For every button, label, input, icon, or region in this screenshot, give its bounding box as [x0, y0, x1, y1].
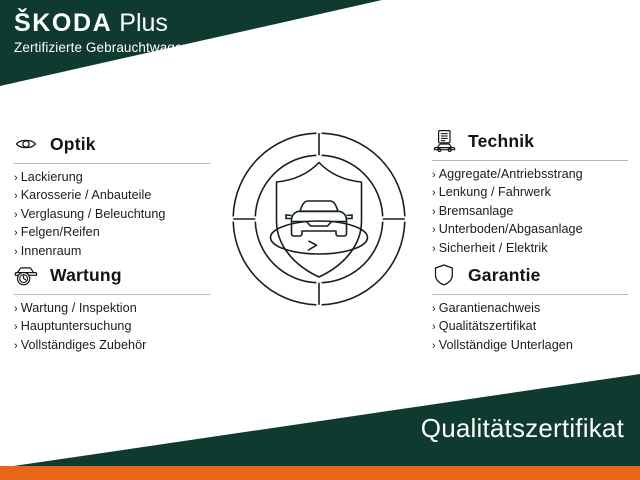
section-wartung-rule [14, 294, 210, 295]
chevron-right-icon: › [14, 172, 18, 184]
car-service-clock-icon [14, 263, 40, 287]
chevron-right-icon: › [432, 206, 436, 218]
chevron-right-icon: › [14, 227, 18, 239]
section-wartung: Wartung ›Wartung / Inspektion ›Hauptunte… [14, 262, 214, 355]
chevron-right-icon: › [14, 209, 18, 221]
list-item-label: Qualitätszertifikat [439, 319, 537, 333]
certificate-page: ŠKODAPlus Zertifizierte Gebrauchtwagen O… [0, 0, 640, 480]
list-item-label: Bremsanlage [439, 204, 514, 218]
section-wartung-title: Wartung [50, 265, 122, 286]
chevron-right-icon: › [432, 303, 436, 315]
chevron-right-icon: › [14, 303, 18, 315]
list-item: ›Wartung / Inspektion [14, 300, 214, 318]
section-technik: Technik ›Aggregate/Antriebsstrang ›Lenku… [432, 128, 632, 258]
list-item-label: Vollständiges Zubehör [21, 338, 147, 352]
list-item: ›Felgen/Reifen [14, 224, 214, 242]
list-item: ›Lackierung [14, 169, 214, 187]
list-item-label: Lackierung [21, 170, 83, 184]
section-technik-list: ›Aggregate/Antriebsstrang ›Lenkung / Fah… [432, 166, 632, 258]
eye-icon [14, 132, 40, 156]
chevron-right-icon: › [14, 246, 18, 258]
section-optik-header: Optik [14, 131, 214, 157]
section-technik-header: Technik [432, 128, 632, 154]
chevron-right-icon: › [432, 243, 436, 255]
list-item: ›Karosserie / Anbauteile [14, 187, 214, 205]
section-optik-rule [14, 163, 210, 164]
footer-title: Qualitätszertifikat [421, 413, 624, 444]
list-item: ›Sicherheit / Elektrik [432, 240, 632, 258]
section-garantie-rule [432, 294, 628, 295]
list-item: ›Vollständiges Zubehör [14, 337, 214, 355]
chevron-right-icon: › [432, 340, 436, 352]
section-garantie-list: ›Garantienachweis ›Qualitätszertifikat ›… [432, 300, 632, 355]
chevron-right-icon: › [432, 187, 436, 199]
list-item-label: Aggregate/Antriebsstrang [439, 167, 583, 181]
section-optik-list: ›Lackierung ›Karosserie / Anbauteile ›Ve… [14, 169, 214, 261]
section-optik-title: Optik [50, 134, 96, 155]
section-optik: Optik ›Lackierung ›Karosserie / Anbautei… [14, 131, 214, 261]
list-item: ›Unterboden/Abgasanlage [432, 221, 632, 239]
chevron-right-icon: › [14, 321, 18, 333]
top-green-banner [0, 0, 640, 90]
list-item-label: Felgen/Reifen [21, 225, 100, 239]
list-item: ›Garantienachweis [432, 300, 632, 318]
chevron-right-icon: › [14, 340, 18, 352]
list-item-label: Vollständige Unterlagen [439, 338, 573, 352]
list-item-label: Wartung / Inspektion [21, 301, 137, 315]
list-item-label: Verglasung / Beleuchtung [21, 207, 166, 221]
shield-car-360-icon [228, 128, 410, 310]
section-garantie-title: Garantie [468, 265, 541, 286]
list-item: ›Lenkung / Fahrwerk [432, 184, 632, 202]
list-item-label: Innenraum [21, 244, 82, 258]
list-item-label: Karosserie / Anbauteile [21, 188, 152, 202]
shield-icon [432, 263, 458, 287]
list-item: ›Hauptuntersuchung [14, 318, 214, 336]
section-technik-rule [432, 160, 628, 161]
list-item: ›Bremsanlage [432, 203, 632, 221]
chevron-right-icon: › [14, 190, 18, 202]
list-item-label: Unterboden/Abgasanlage [439, 222, 583, 236]
orange-accent-bar [0, 466, 640, 480]
chevron-right-icon: › [432, 321, 436, 333]
car-document-icon [432, 129, 458, 153]
list-item: ›Vollständige Unterlagen [432, 337, 632, 355]
section-technik-title: Technik [468, 131, 534, 152]
chevron-right-icon: › [432, 169, 436, 181]
chevron-right-icon: › [432, 224, 436, 236]
list-item-label: Sicherheit / Elektrik [439, 241, 548, 255]
list-item-label: Garantienachweis [439, 301, 541, 315]
section-wartung-list: ›Wartung / Inspektion ›Hauptuntersuchung… [14, 300, 214, 355]
list-item: ›Aggregate/Antriebsstrang [432, 166, 632, 184]
list-item-label: Lenkung / Fahrwerk [439, 185, 551, 199]
list-item-label: Hauptuntersuchung [21, 319, 132, 333]
list-item: ›Qualitätszertifikat [432, 318, 632, 336]
list-item: ›Innenraum [14, 243, 214, 261]
list-item: ›Verglasung / Beleuchtung [14, 206, 214, 224]
section-wartung-header: Wartung [14, 262, 214, 288]
section-garantie-header: Garantie [432, 262, 632, 288]
section-garantie: Garantie ›Garantienachweis ›Qualitätszer… [432, 262, 632, 355]
